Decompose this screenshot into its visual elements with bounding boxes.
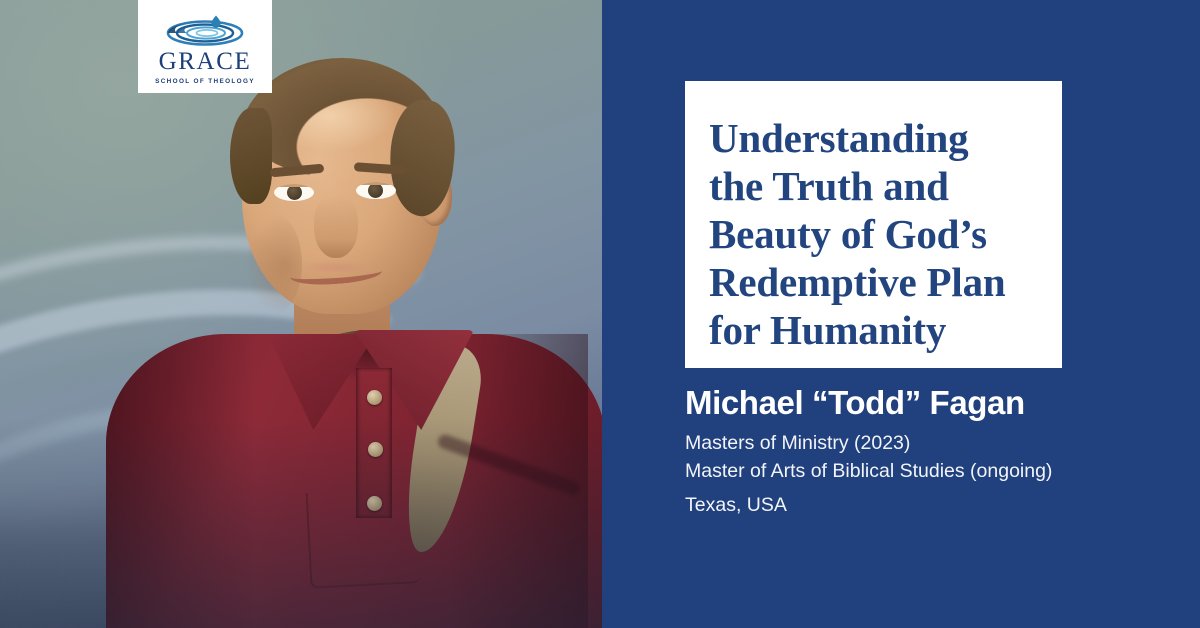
eyelid	[274, 184, 314, 187]
eye-left	[274, 184, 314, 201]
cheek-shadow	[246, 214, 302, 314]
credential-line: Master of Arts of Biblical Studies (ongo…	[685, 458, 1155, 486]
nose	[314, 196, 358, 258]
profile-name: Michael “Todd” Fagan	[685, 385, 1155, 421]
hair-left	[230, 108, 272, 204]
iris	[287, 185, 302, 200]
eye-right	[356, 182, 396, 199]
brand-logo[interactable]: GRACE SCHOOL OF THEOLOGY	[138, 0, 272, 93]
logo-tagline: SCHOOL OF THEOLOGY	[155, 78, 255, 85]
info-panel: Understanding the Truth and Beauty of Go…	[602, 0, 1200, 628]
iris	[368, 183, 383, 198]
water-ripple-droplet-icon	[161, 13, 249, 47]
shirt-button	[367, 390, 382, 405]
profile-credentials: Masters of Ministry (2023) Master of Art…	[685, 430, 1155, 485]
eyelid	[356, 182, 396, 185]
promo-banner: GRACE SCHOOL OF THEOLOGY Understanding t…	[0, 0, 1200, 628]
title-card: Understanding the Truth and Beauty of Go…	[685, 81, 1062, 368]
credential-line: Masters of Ministry (2023)	[685, 430, 1155, 458]
portrait-photo	[0, 0, 602, 628]
profile-location: Texas, USA	[685, 494, 787, 517]
photo-vignette	[0, 418, 602, 628]
page-title: Understanding the Truth and Beauty of Go…	[709, 115, 1032, 355]
logo-wordmark: GRACE	[159, 49, 252, 74]
